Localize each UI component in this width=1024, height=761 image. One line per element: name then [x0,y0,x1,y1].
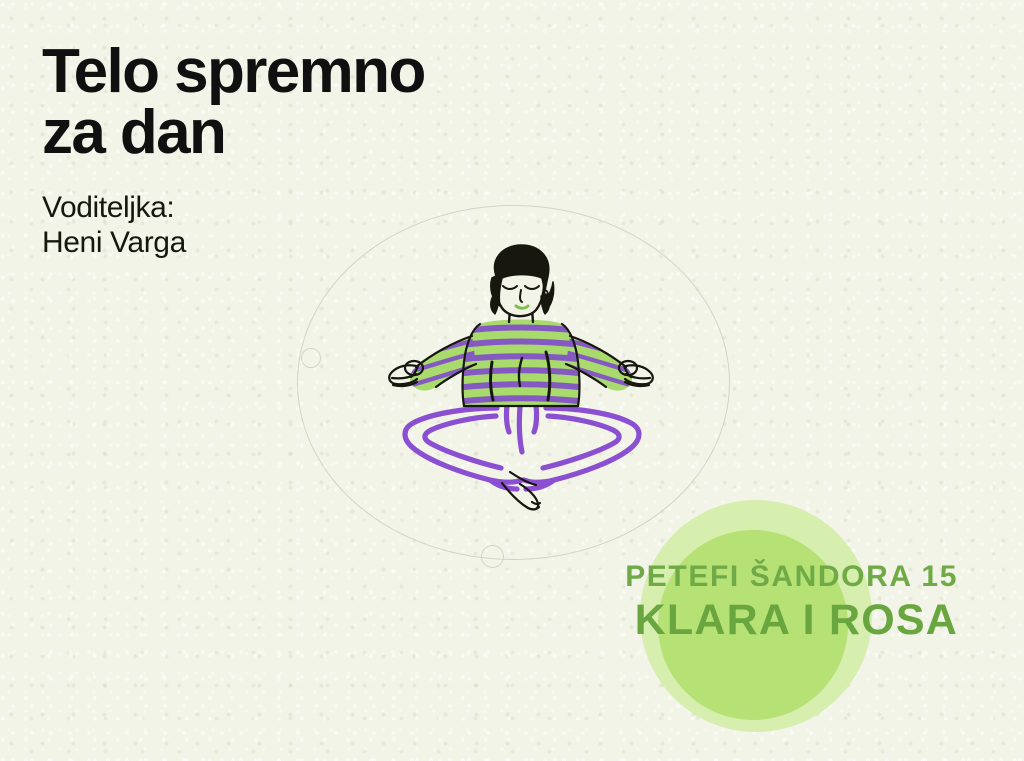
decorative-circle-bottom [481,545,504,568]
instructor-label: Voditeljka: Heni Varga [42,190,602,261]
headline-block: Telo spremno za dan Voditeljka: Heni Var… [42,42,602,260]
venue-name: KLARA I ROSA [625,597,958,644]
decorative-circle-left [301,348,321,368]
poster-canvas: Telo spremno za dan Voditeljka: Heni Var… [0,0,1024,761]
address-street: PETEFI ŠANDORA 15 [625,560,958,595]
address-block: PETEFI ŠANDORA 15 KLARA I ROSA [625,560,958,644]
page-title: Telo spremno za dan [42,42,602,164]
meditation-illustration [376,240,666,520]
